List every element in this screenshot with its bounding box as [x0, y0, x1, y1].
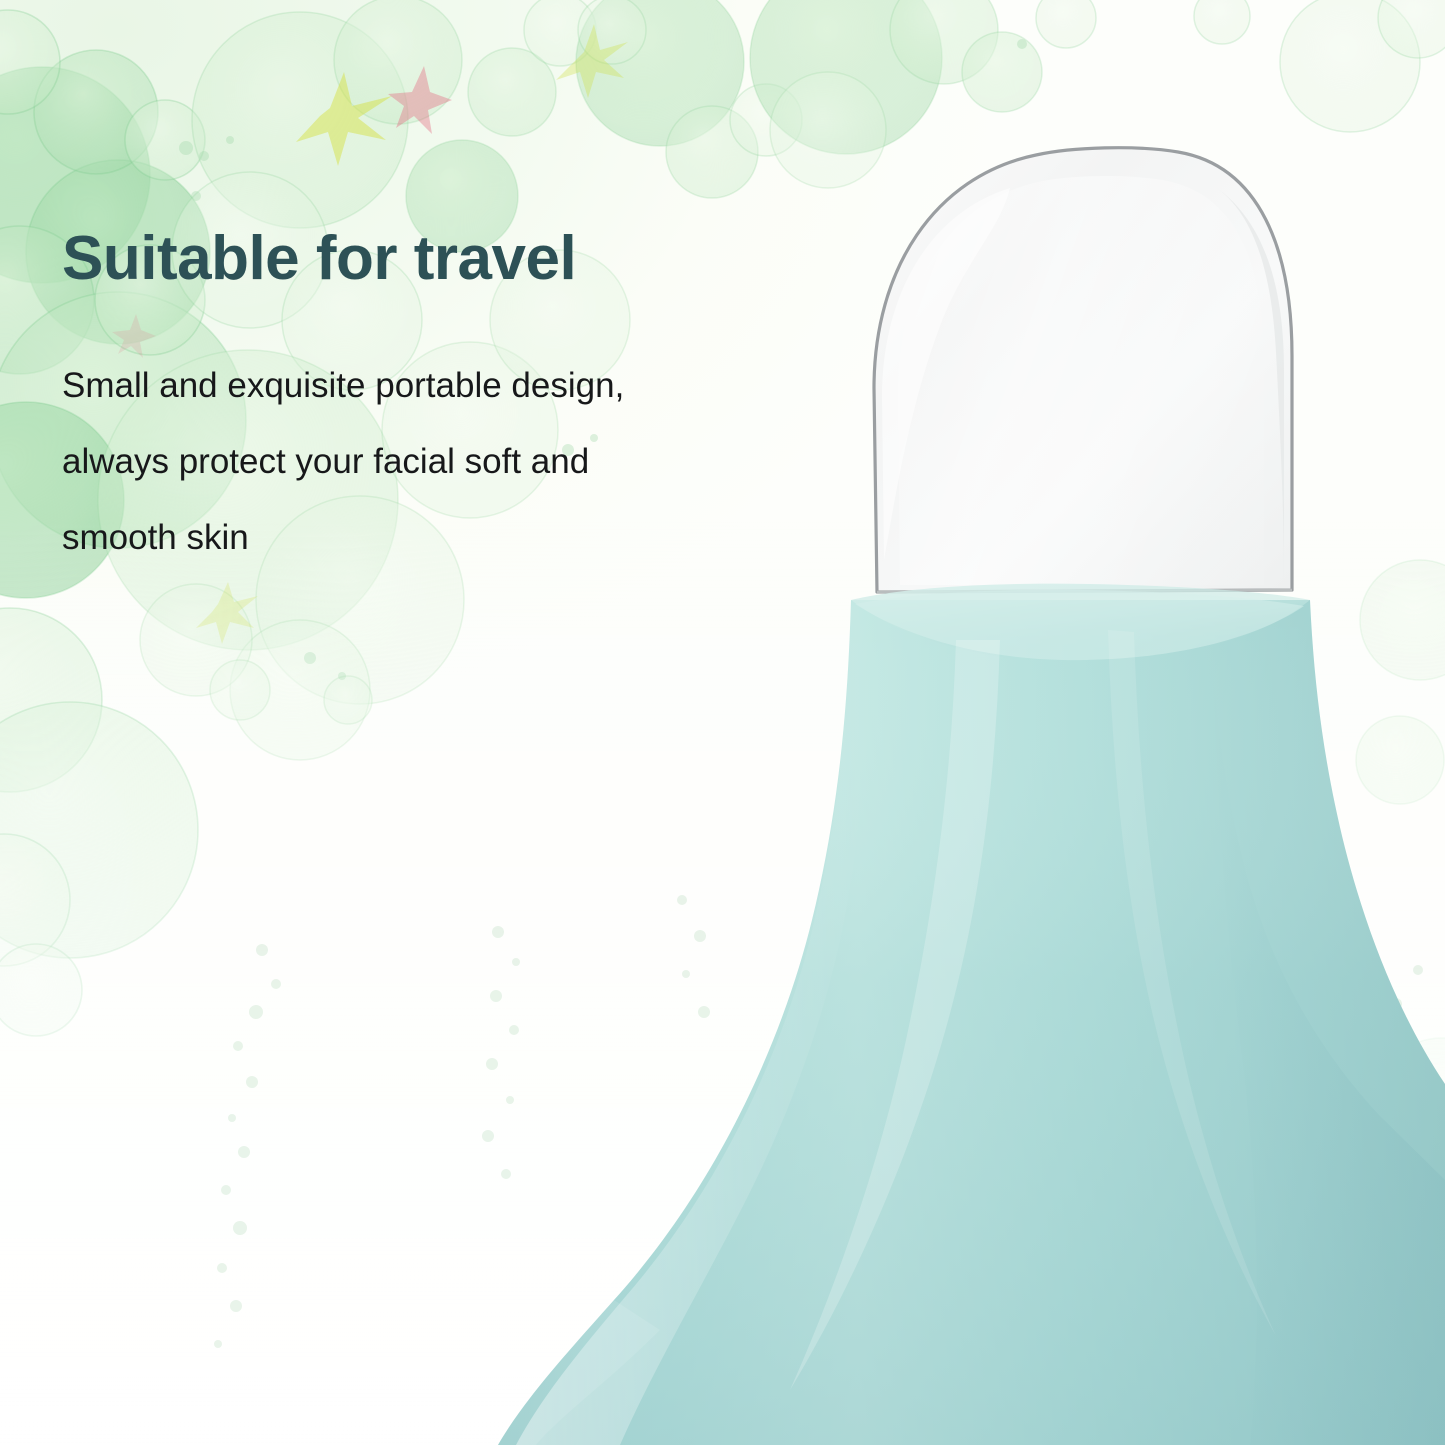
body-copy-line-2: always protect your facial soft and — [62, 424, 822, 500]
body-copy-line-1: Small and exquisite portable design, — [62, 348, 822, 424]
promo-banner: Suitable for travel Small and exquisite … — [0, 0, 1445, 1445]
facial-cleansing-spatula — [0, 0, 1445, 1445]
body-copy-line-3: smooth skin — [62, 500, 822, 576]
silicone-handle — [498, 584, 1445, 1445]
copy-block: Suitable for travel Small and exquisite … — [62, 228, 822, 576]
body-copy: Small and exquisite portable design, alw… — [62, 348, 822, 576]
page-title: Suitable for travel — [62, 228, 822, 290]
spatula-blade — [874, 148, 1292, 592]
